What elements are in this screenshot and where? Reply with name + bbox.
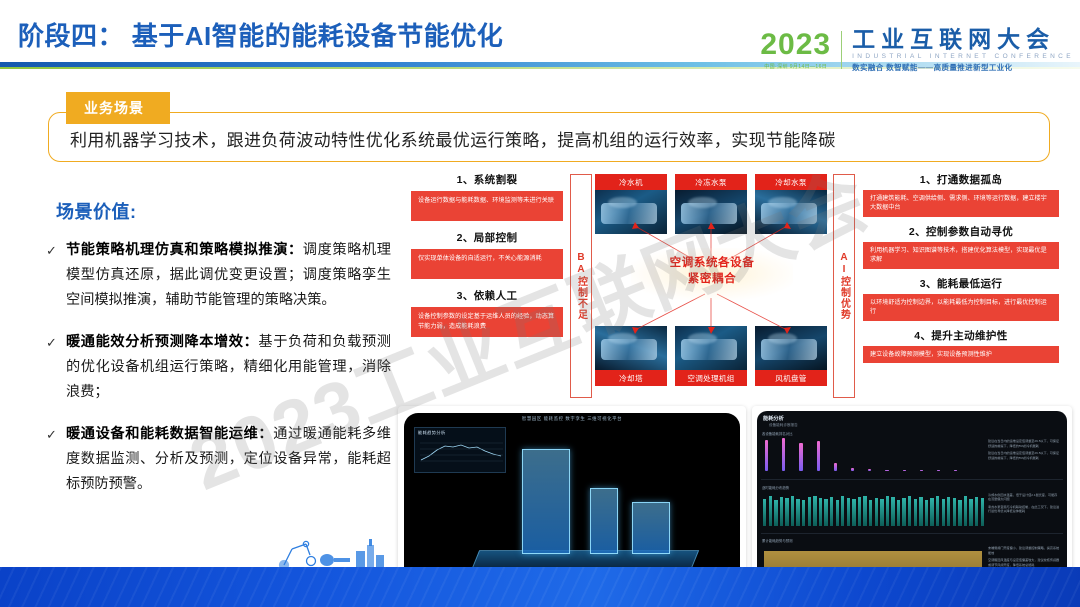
advantage-title: 2、控制参数自动寻优: [863, 224, 1059, 239]
bar-group: [765, 437, 957, 471]
trend-line-chart: [417, 438, 505, 466]
list-item: ✓ 暖通能效分析预测降本增效：基于负荷和负载预测的优化设备机组运行策略，精细化用…: [46, 330, 391, 405]
bar: [937, 470, 940, 471]
logo-year-subtitle: 中国·深圳 9月14日—16日: [760, 63, 831, 70]
logo-year: 2023: [760, 30, 831, 60]
divider: [761, 533, 1063, 534]
list-item-text: 暖通设备和能耗数据智能运维：通过暖通能耗多维度数据监测、分析及预测，定位设备异常…: [66, 422, 391, 497]
dashboard-notes-1: 建议在当日内的运维设定值调整至26.5以下，可保证舒适的前提下，降低约5%的冷机…: [988, 439, 1060, 464]
logo-divider: [841, 31, 842, 69]
bar: [834, 463, 837, 471]
note: 建议在当日内的运维设定值调整至26.5以下，可保证舒适的前提下，降低约5%的冷机…: [988, 451, 1060, 460]
advantage-title: 4、提升主动维护性: [863, 328, 1059, 343]
page-title: 阶段四： 基于AI智能的能耗设备节能优化: [18, 16, 503, 53]
value-bullet-list: ✓ 节能策略机理仿真和策略模拟推演：调度策略机理模型仿真还原，据此调优变更设置；…: [46, 238, 391, 514]
bar-group: [763, 496, 984, 526]
problem-desc: 设备运行数据与能耗数据、环境监测等未进行关联: [411, 191, 563, 221]
advantage-column: 1、打通数据孤岛 打通建筑能耗、空调供给侧、需求侧、环境等运行数据，建立楼宇大数…: [863, 172, 1059, 370]
building-model-c: [632, 502, 670, 554]
advantage-desc: 打通建筑能耗、空调供给侧、需求侧、环境等运行数据，建立楼宇大数据中台: [863, 190, 1059, 217]
bar: [765, 440, 768, 471]
band-label-ba: BA控制不足: [570, 174, 592, 398]
problem-desc: 仅实现单体设备的自适运行，不关心能源消耗: [411, 249, 563, 279]
digital-twin-topbar: 智慧园区 能耗监控 数字孪生 三维可视化平台: [404, 416, 740, 422]
bar: [782, 438, 785, 471]
dashboard-notes-2: 冷却水供回水温差，低于设计值2.1摄氏度，可能存在流量偏大问题 考虑水泵变频与冷…: [988, 493, 1060, 518]
list-item-text: 暖通能效分析预测降本增效：基于负荷和负载预测的优化设备机组运行策略，精细化用能管…: [66, 330, 391, 405]
digital-twin-panel-title: 能耗趋势分析: [415, 428, 505, 438]
bar: [817, 441, 820, 471]
logo-name-cn: 工业互联网大会: [852, 27, 1074, 51]
dashboard-section-label: 逐时能耗分布趋势: [757, 482, 1067, 491]
advantage-desc: 利用机器学习、知识图谱等技术，搭建优化算法模型，实现最优是求解: [863, 242, 1059, 269]
dashboard-section-label: 各设备能耗排名对比: [757, 428, 1067, 437]
value-heading: 场景价值:: [56, 198, 137, 224]
logo-tagline: 数实融合 数智赋能——高质量推进新型工业化: [852, 62, 1074, 73]
conference-logo: 2023 中国·深圳 9月14日—16日 工业互联网大会 INDUSTRIAL …: [760, 26, 1074, 74]
problem-title: 2、局部控制: [411, 230, 563, 245]
check-icon: ✓: [46, 422, 66, 497]
advantage-title: 1、打通数据孤岛: [863, 172, 1059, 187]
bar: [799, 443, 802, 471]
equipment-cluster: 冷水机 冷冻水泵 冷却水泵 空调系统各设备 紧密耦合 冷却塔: [595, 174, 827, 398]
logo-name-en: INDUSTRIAL INTERNET CONFERENCE: [852, 53, 1074, 60]
bar: [920, 470, 923, 471]
note: 建议在当日内的运维设定值调整至26.5以下，可保证舒适的前提下，降低约5%的冷机…: [988, 439, 1060, 448]
digital-twin-chart-panel: 能耗趋势分析: [414, 427, 506, 473]
list-item-text: 节能策略机理仿真和策略模拟推演：调度策略机理模型仿真还原，据此调优变更设置；调度…: [66, 238, 391, 313]
industry-icons: [270, 535, 400, 569]
list-item-lead: 暖通能效分析预测降本增效：: [66, 334, 258, 350]
advantage-desc: 建立设备故障预测模型，实现设备预测性维护: [863, 346, 1059, 363]
list-item: ✓ 节能策略机理仿真和策略模拟推演：调度策略机理模型仿真还原，据此调优变更设置；…: [46, 238, 391, 313]
check-icon: ✓: [46, 238, 66, 313]
center-title-line1: 空调系统各设备: [639, 256, 785, 272]
problem-title: 3、依赖人工: [411, 288, 563, 303]
building-model-b: [590, 488, 618, 554]
divider: [761, 479, 1063, 480]
advantage-title: 3、能耗最低运行: [863, 276, 1059, 291]
logo-year-block: 2023 中国·深圳 9月14日—16日: [760, 30, 841, 70]
dashboard-section-label: 累计能耗趋势与预测: [757, 535, 1067, 544]
coupling-diagram: 1、系统割裂 设备运行数据与能耗数据、环境监测等未进行关联 2、局部控制 仅实现…: [405, 172, 1065, 400]
dashboard-bar-chart-1: 建议在当日内的运维设定值调整至26.5以下，可保证舒适的前提下，降低约5%的冷机…: [761, 437, 1063, 477]
bar: [903, 470, 906, 471]
scene-badge: 业务场景: [66, 92, 170, 124]
bar: [868, 469, 871, 471]
note: 末端侧阀门开度偏小，建议调整控制策略，提高系统能效: [988, 546, 1060, 555]
center-title-line2: 紧密耦合: [639, 272, 785, 288]
dashboard-bar-chart-2: 冷却水供回水温差，低于设计值2.1摄氏度，可能存在流量偏大问题 考虑水泵变频与冷…: [761, 491, 1063, 531]
center-title: 空调系统各设备 紧密耦合: [639, 256, 785, 287]
problem-desc: 设备控制参数的设定基于运维人员的经验，动态算节能力弱，造成能耗浪费: [411, 307, 563, 337]
dashboard-title: 能耗分析: [757, 411, 1067, 422]
note: 考虑水泵变频与冷机联动控制，在此工况下，建议进行最优寻优以降低总体能耗: [988, 505, 1060, 514]
slide-root: 阶段四： 基于AI智能的能耗设备节能优化 2023 中国·深圳 9月14日—16…: [0, 0, 1080, 607]
check-icon: ✓: [46, 330, 66, 405]
bottom-band: [0, 567, 1080, 607]
list-item-lead: 节能策略机理仿真和策略模拟推演：: [66, 242, 303, 258]
building-model-a: [522, 449, 570, 554]
advantage-desc: 以环境舒适为控制边界，以能耗最低为控制目标，进行最优控制运行: [863, 294, 1059, 321]
band-label-ai: AI控制优势: [833, 174, 855, 398]
list-item-lead: 暖通设备和能耗数据智能运维：: [66, 426, 273, 442]
bar: [885, 470, 888, 472]
bar: [954, 470, 957, 471]
problem-column: 1、系统割裂 设备运行数据与能耗数据、环境监测等未进行关联 2、局部控制 仅实现…: [411, 172, 563, 346]
scene-description: 利用机器学习技术，跟进负荷波动特性优化系统最优运行策略，提高机组的运行效率，实现…: [70, 126, 836, 151]
note: 冷却水供回水温差，低于设计值2.1摄氏度，可能存在流量偏大问题: [988, 493, 1060, 502]
logo-text-block: 工业互联网大会 INDUSTRIAL INTERNET CONFERENCE 数…: [852, 27, 1074, 73]
problem-title: 1、系统割裂: [411, 172, 563, 187]
bar: [851, 468, 854, 471]
list-item: ✓ 暖通设备和能耗数据智能运维：通过暖通能耗多维度数据监测、分析及预测，定位设备…: [46, 422, 391, 497]
